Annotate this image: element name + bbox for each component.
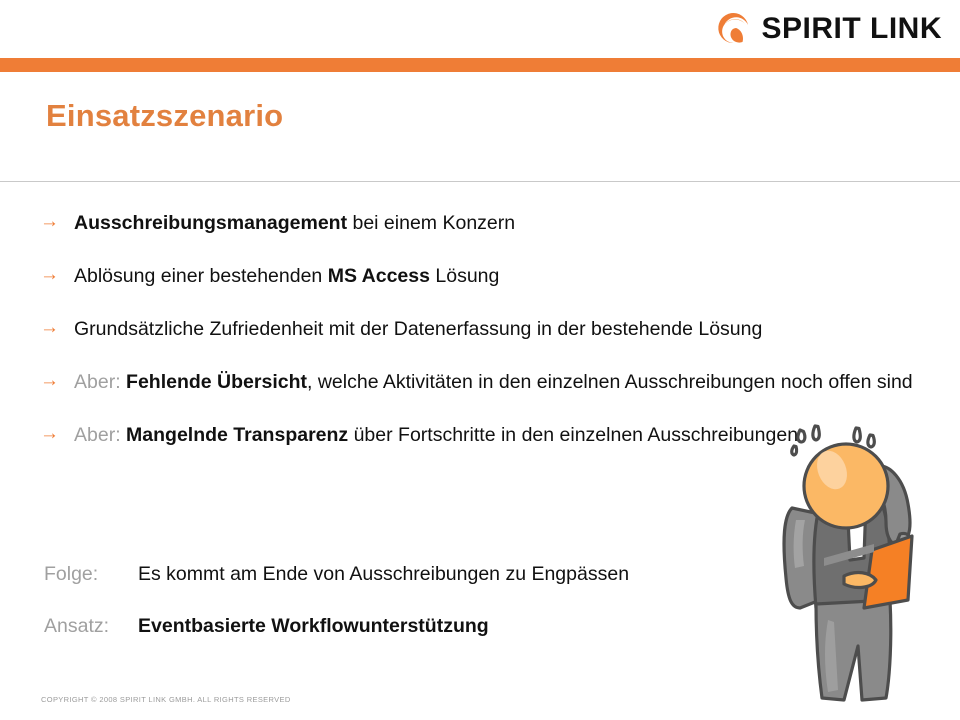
arrow-icon: →	[40, 261, 74, 285]
statement-item: Folge:Es kommt am Ende von Ausschreibung…	[44, 560, 844, 588]
bullet-text: Ablösung einer bestehenden MS Access Lös…	[74, 261, 940, 292]
bullet-text-segment: Fehlende Übersicht	[126, 371, 307, 393]
bullet-text-segment: bei einem Konzern	[347, 212, 515, 234]
statement-label: Ansatz:	[44, 612, 138, 640]
bullet-text-segment: Mangelnde Transparenz	[126, 424, 348, 446]
arrow-icon: →	[40, 208, 74, 232]
confused-businessman-illustration-icon	[778, 408, 960, 708]
bullet-item: →Ablösung einer bestehenden MS Access Lö…	[40, 261, 940, 292]
bullet-item: →Aber: Fehlende Übersicht, welche Aktivi…	[40, 367, 940, 398]
slide-header: SPIRIT LINK	[0, 0, 960, 58]
copyright-text: COPYRIGHT © 2008 SPIRIT LINK GMBH. ALL R…	[41, 695, 291, 704]
brand-wordmark: SPIRIT LINK	[761, 14, 942, 44]
statement-item: Ansatz:Eventbasierte Workflowunterstützu…	[44, 612, 844, 640]
bullet-text: Grundsätzliche Zufriedenheit mit der Dat…	[74, 314, 940, 345]
bullet-item: →Ausschreibungsmanagement bei einem Konz…	[40, 208, 940, 239]
bullet-text-segment: über Fortschritte in den einzelnen Aussc…	[348, 424, 798, 446]
arrow-icon: →	[40, 314, 74, 338]
statement-value: Es kommt am Ende von Ausschreibungen zu …	[138, 560, 629, 588]
title-divider	[0, 181, 960, 182]
arrow-icon: →	[40, 420, 74, 444]
bullet-text-segment: Lösung	[430, 265, 499, 287]
brand-logo: SPIRIT LINK	[715, 8, 942, 50]
accent-bar	[0, 58, 960, 72]
statement-list: Folge:Es kommt am Ende von Ausschreibung…	[44, 560, 844, 664]
statement-label: Folge:	[44, 560, 138, 588]
bullet-text-segment: Ausschreibungsmanagement	[74, 212, 347, 234]
statement-value: Eventbasierte Workflowunterstützung	[138, 612, 489, 640]
bullet-text-segment: Grundsätzliche Zufriedenheit mit der Dat…	[74, 318, 762, 340]
spiral-circle-logo-icon	[715, 11, 751, 47]
bullet-text: Aber: Fehlende Übersicht, welche Aktivit…	[74, 367, 940, 398]
bullet-text: Ausschreibungsmanagement bei einem Konze…	[74, 208, 940, 239]
bullet-text-segment: , welche Aktivitäten in den einzelnen Au…	[307, 371, 913, 393]
arrow-icon: →	[40, 367, 74, 391]
bullet-text-segment: Aber:	[74, 424, 126, 446]
bullet-text-segment: Aber:	[74, 371, 126, 393]
bullet-item: →Grundsätzliche Zufriedenheit mit der Da…	[40, 314, 940, 345]
bullet-text-segment: Ablösung einer bestehenden	[74, 265, 328, 287]
page-title: Einsatzszenario	[46, 98, 283, 134]
bullet-text-segment: MS Access	[328, 265, 430, 287]
